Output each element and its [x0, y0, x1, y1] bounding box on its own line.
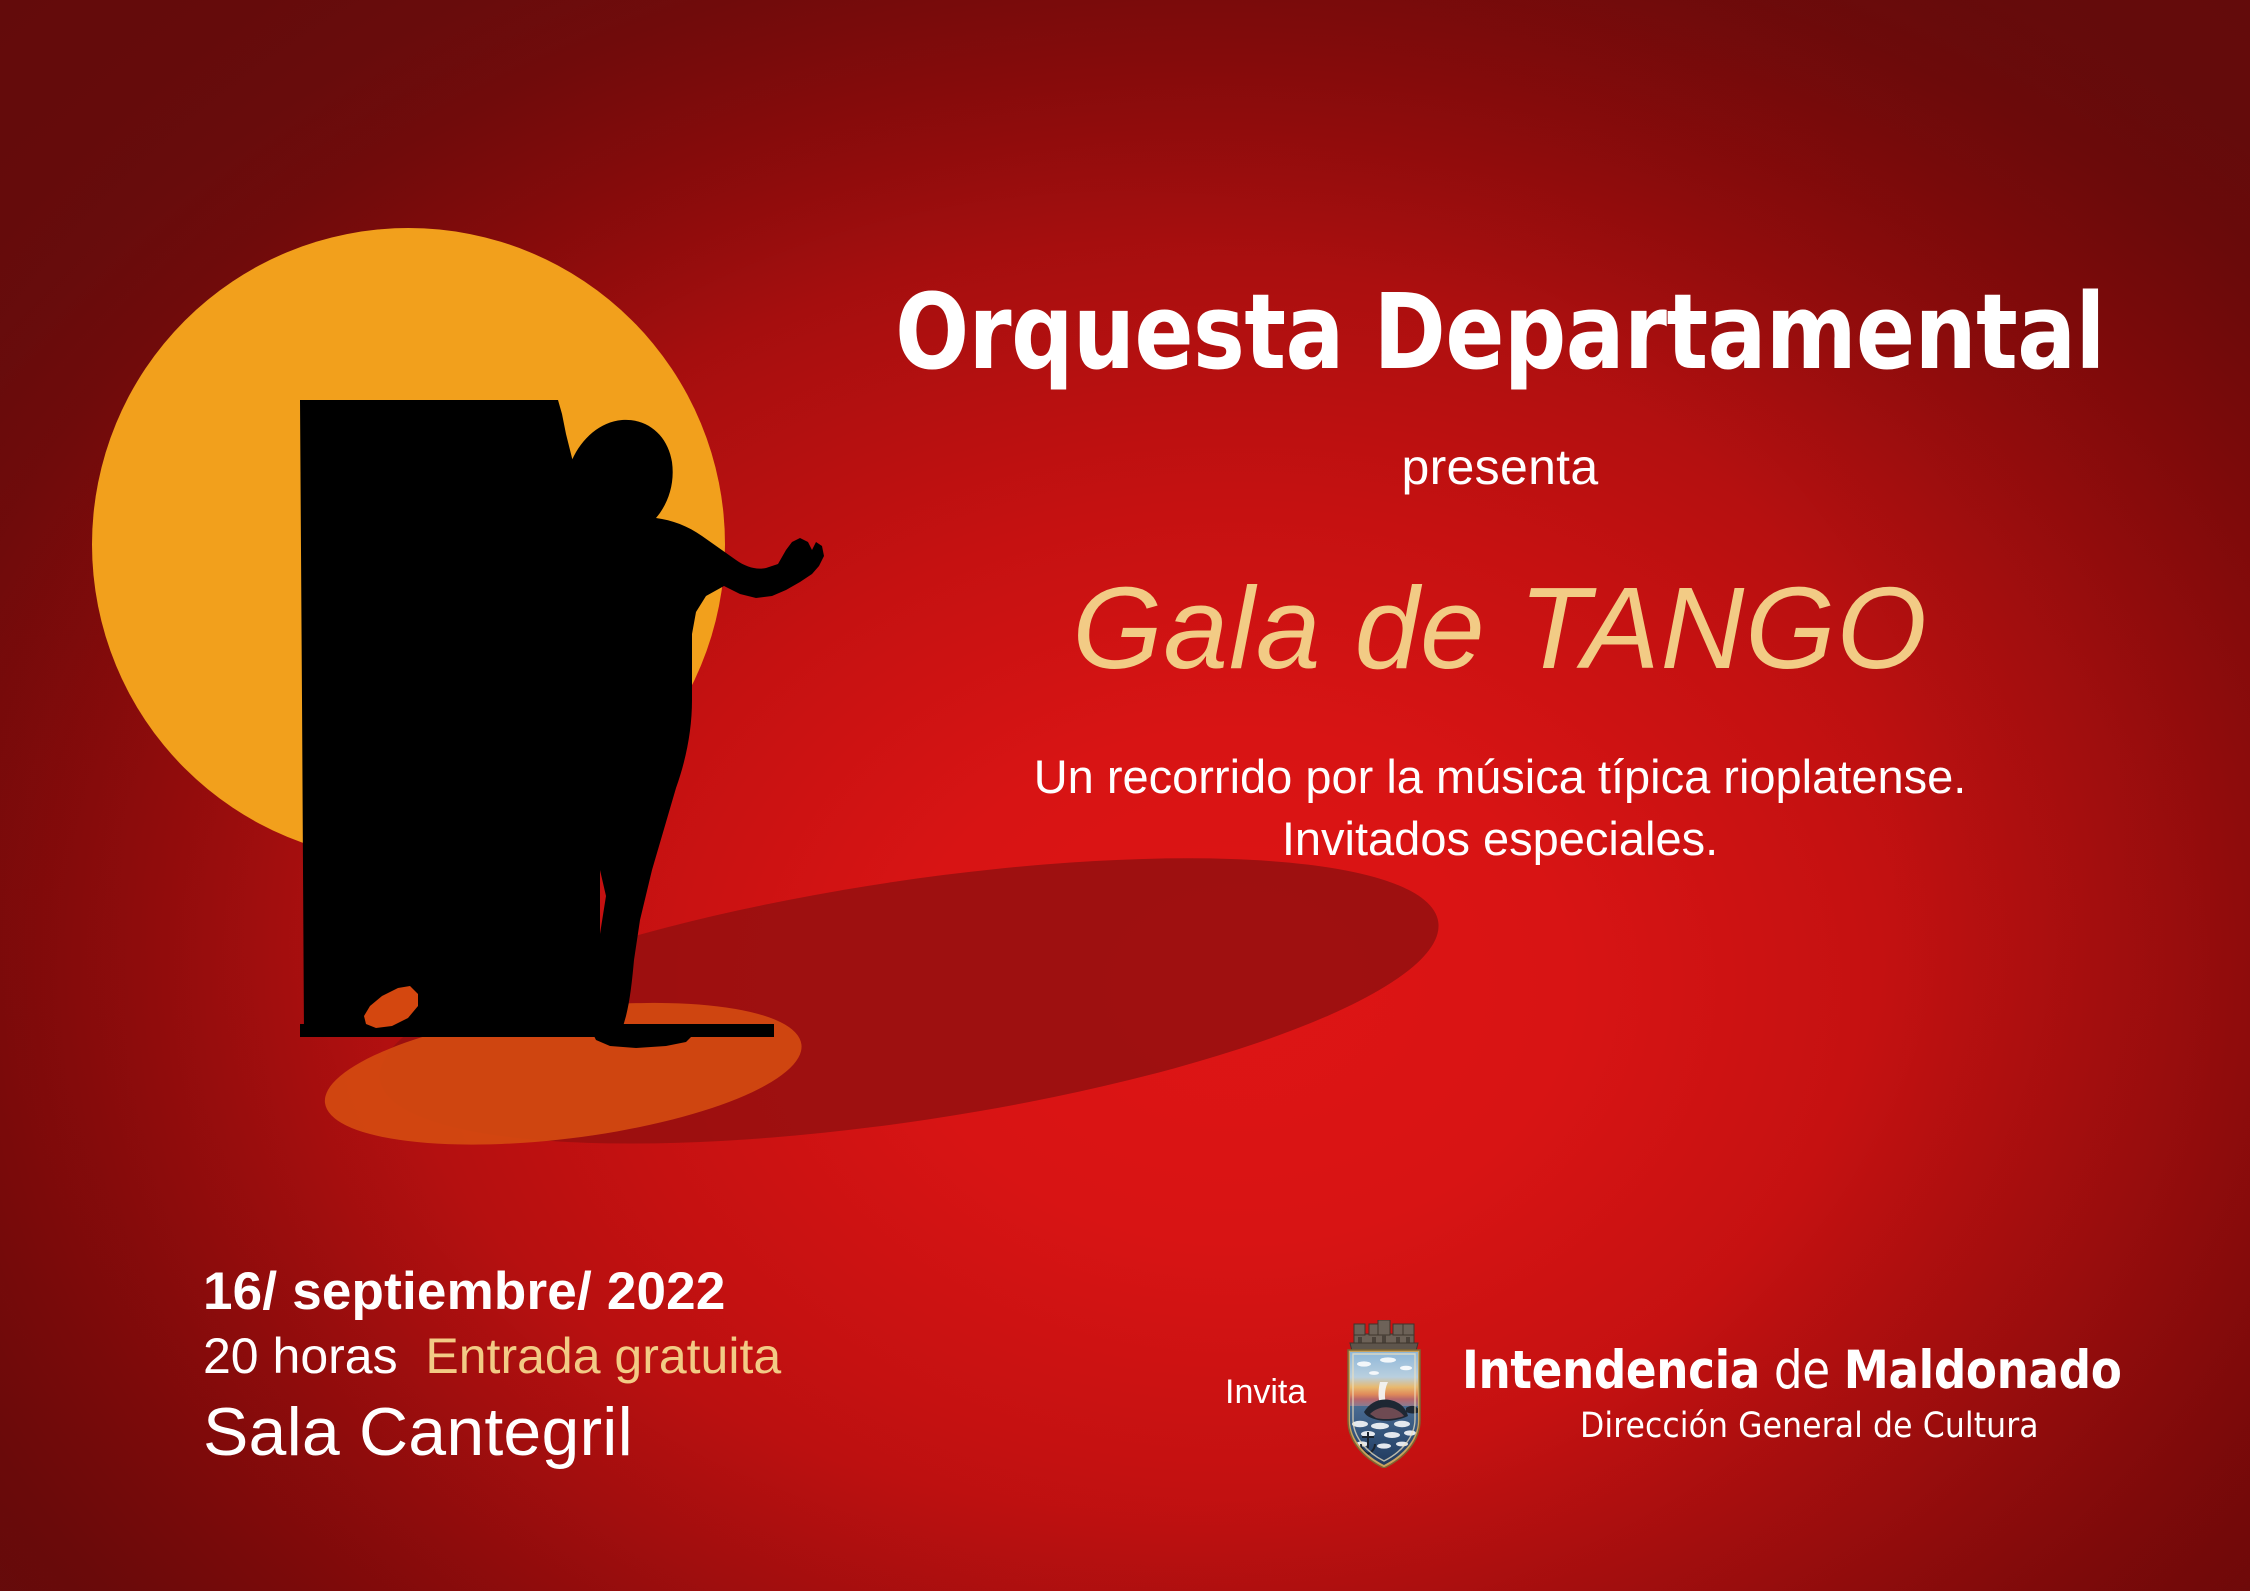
sponsor-department: Dirección General de Cultura	[1462, 1409, 2156, 1444]
sponsor-name-part2: Maldonado	[1844, 1340, 2122, 1401]
event-time-and-admission: 20 horas Entrada gratuita	[203, 1321, 781, 1392]
event-venue: Sala Cantegril	[203, 1392, 781, 1472]
presents-label: presenta	[820, 438, 2180, 496]
sponsor-logo-block: Invita	[1225, 1320, 2156, 1468]
event-admission: Entrada gratuita	[425, 1328, 781, 1384]
sponsor-name-block: Intendencia de Maldonado Dirección Gener…	[1462, 1344, 2156, 1444]
event-time: 20 horas	[203, 1328, 398, 1384]
tango-dancers-silhouette-icon	[300, 400, 840, 1080]
event-date: 16/ septiembre/ 2022	[203, 1262, 781, 1321]
event-description: Un recorrido por la música típica riopla…	[820, 746, 2180, 870]
maldonado-coat-of-arms-icon	[1336, 1320, 1432, 1468]
sponsor-name-connector: de	[1760, 1340, 1844, 1401]
event-title: Gala de TANGO	[820, 568, 2180, 690]
description-line-1: Un recorrido por la música típica riopla…	[820, 746, 2180, 808]
sponsor-name-part1: Intendencia	[1462, 1340, 1760, 1401]
sponsor-name: Intendencia de Maldonado	[1462, 1344, 2121, 1397]
tango-gala-poster: Orquesta Departamental presenta Gala de …	[0, 0, 2250, 1591]
invites-label: Invita	[1225, 1373, 1306, 1416]
organization-title: Orquesta Departamental	[868, 280, 2133, 384]
description-line-2: Invitados especiales.	[820, 808, 2180, 870]
event-details-block: 16/ septiembre/ 2022 20 horas Entrada gr…	[203, 1262, 781, 1473]
poster-text-column: Orquesta Departamental presenta Gala de …	[820, 280, 2180, 870]
